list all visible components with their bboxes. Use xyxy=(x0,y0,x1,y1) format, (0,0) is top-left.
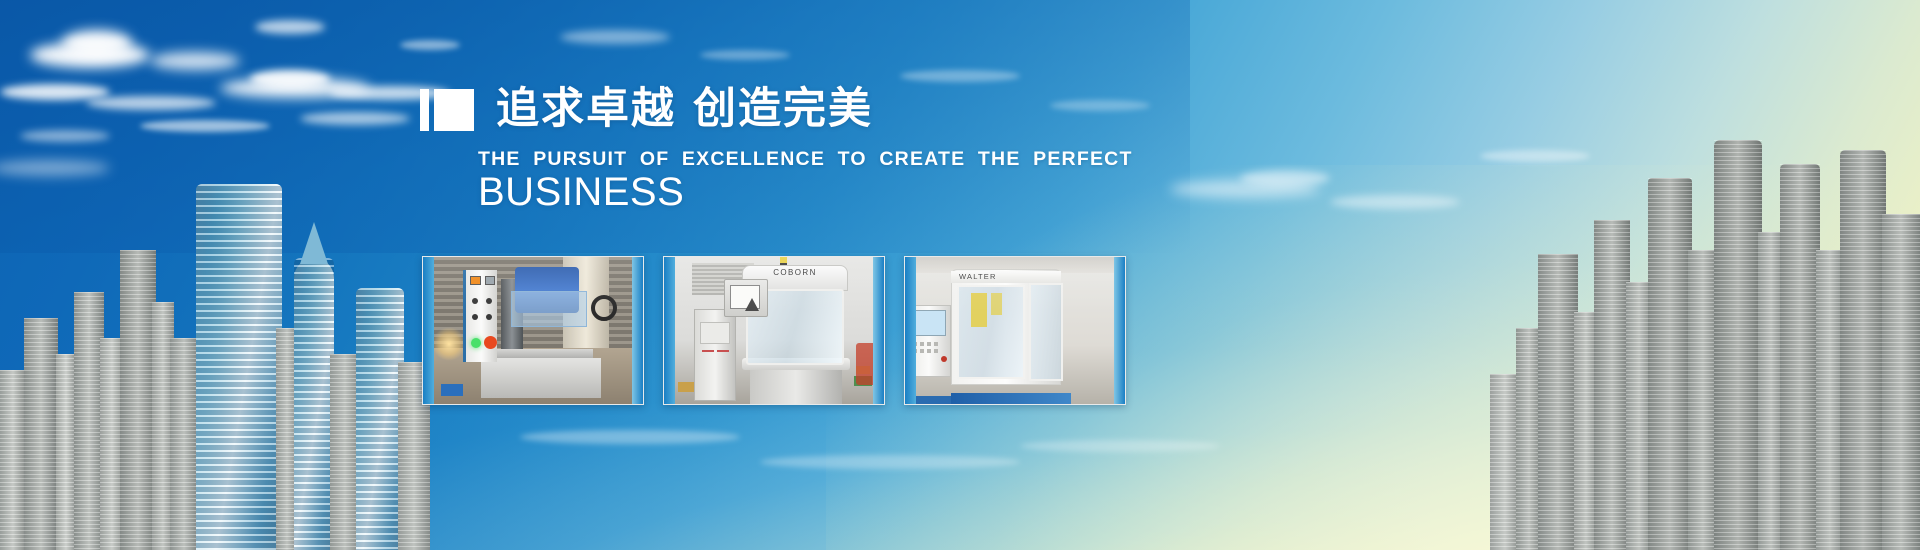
handwheel xyxy=(591,295,617,321)
photo-left-border xyxy=(905,257,916,404)
machine-photo-strip: COBORN xyxy=(422,256,1126,405)
banner-content: 追求卓越 创造完美 THE PURSUIT OF EXCELLENCE TO C… xyxy=(0,0,1920,550)
work-lamp-glow xyxy=(433,327,465,361)
panel-knob-icon xyxy=(472,314,478,320)
photo-left-border xyxy=(664,257,675,404)
logo-mark-icon xyxy=(420,89,474,131)
machine-base xyxy=(481,358,601,398)
headline-chinese: 追求卓越 创造完美 xyxy=(496,88,873,131)
panel-meter-icon xyxy=(485,276,495,285)
keypad-key-icon xyxy=(927,349,931,353)
sliding-door xyxy=(1029,283,1063,381)
panel-display-icon xyxy=(470,276,481,285)
panel-knob-icon xyxy=(472,298,478,304)
panel-knob-icon xyxy=(486,298,492,304)
cabinet-indicator xyxy=(717,350,729,352)
machine-pedestal xyxy=(750,366,842,404)
yellow-interior-part xyxy=(991,293,1002,315)
walter-tool-grinder-photo[interactable]: WALTER xyxy=(904,256,1126,405)
logo-block-icon xyxy=(434,89,474,131)
console-screen xyxy=(912,310,946,336)
keypad-key-icon xyxy=(934,349,938,353)
hero-banner: 追求卓越 创造完美 THE PURSUIT OF EXCELLENCE TO C… xyxy=(0,0,1920,550)
hmi-console xyxy=(724,279,768,317)
emergency-stop-icon xyxy=(484,336,497,349)
yellow-interior-part xyxy=(971,293,987,327)
console-stop-icon xyxy=(941,356,947,362)
business-word: BUSINESS xyxy=(478,170,684,215)
cabinet-panel-icon xyxy=(700,322,730,344)
photo-right-border xyxy=(1114,257,1125,404)
keypad-key-icon xyxy=(927,342,931,346)
headline-row: 追求卓越 创造完美 xyxy=(420,88,873,131)
keypad-key-icon xyxy=(920,349,924,353)
keypad-key-icon xyxy=(934,342,938,346)
walter-brand-label: WALTER xyxy=(959,272,997,281)
screen-graphic-icon xyxy=(745,298,759,311)
photo-right-border xyxy=(632,257,643,404)
electrical-cabinet xyxy=(694,309,736,401)
control-panel xyxy=(463,270,497,362)
photo-right-border xyxy=(873,257,884,404)
surface-grinder-machine-photo[interactable] xyxy=(422,256,644,405)
coborn-rotary-machine-photo[interactable]: COBORN xyxy=(663,256,885,405)
photo-left-border xyxy=(423,257,434,404)
blue-crate xyxy=(441,384,463,396)
cabinet-indicator xyxy=(702,350,714,352)
machine-base-stripe xyxy=(951,393,1071,404)
safety-guard xyxy=(511,291,587,327)
floor-crate xyxy=(678,382,694,392)
hmi-screen xyxy=(730,285,760,309)
coborn-brand-label: COBORN xyxy=(742,268,848,277)
subtitle-english: THE PURSUIT OF EXCELLENCE TO CREATE THE … xyxy=(478,148,1133,171)
logo-bar-icon xyxy=(420,89,429,131)
keypad-key-icon xyxy=(920,342,924,346)
green-indicator-icon xyxy=(471,338,481,348)
panel-knob-icon xyxy=(486,314,492,320)
